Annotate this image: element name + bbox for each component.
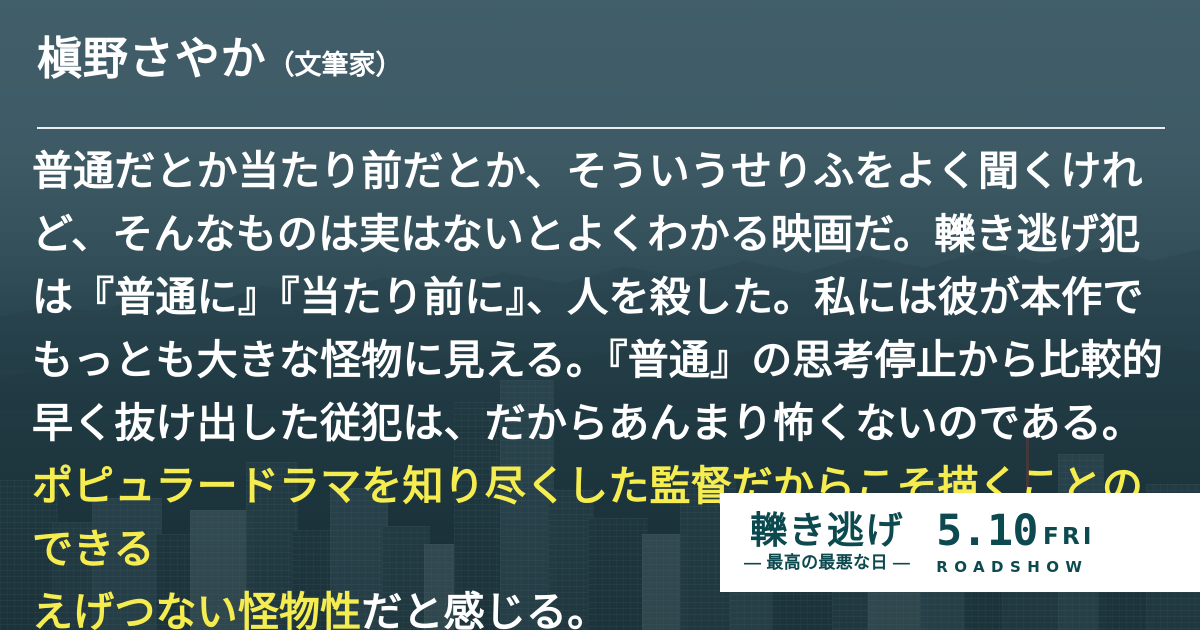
author-header: 槇野さやか （文筆家） — [37, 36, 1165, 81]
quote-segment-highlight-2: えげつない怪物性 — [32, 589, 361, 630]
release-date: 5.10 — [936, 511, 1038, 552]
film-logo-plate: 轢き逃げ — 最高の最悪な日 — 5.10 FRI ROADSHOW — [720, 493, 1200, 592]
author-role: （文筆家） — [268, 52, 403, 79]
header-divider — [37, 127, 1165, 129]
author-name: 槇野さやか — [37, 36, 267, 81]
card-content: 槇野さやか （文筆家） 普通だとか当たり前だとか、そういうせりふをよく聞くけれど… — [0, 0, 1200, 630]
quote-segment-plain-2: だと感じる。 — [361, 589, 608, 630]
film-tagline: — 最高の最悪な日 — — [744, 554, 910, 573]
release-date-row: 5.10 FRI — [936, 511, 1094, 552]
film-title-group: 轢き逃げ — 最高の最悪な日 — — [744, 512, 910, 572]
film-title: 轢き逃げ — [750, 512, 904, 550]
quote-segment-plain-1: 普通だとか当たり前だとか、そういうせりふをよく聞くけれど、そんなものは実はないと… — [32, 148, 1163, 446]
release-weekday: FRI — [1043, 526, 1095, 551]
roadshow-label: ROADSHOW — [936, 558, 1088, 576]
release-info-group: 5.10 FRI ROADSHOW — [936, 511, 1094, 577]
quote-card: 槇野さやか （文筆家） 普通だとか当たり前だとか、そういうせりふをよく聞くけれど… — [0, 0, 1200, 630]
author-line: 槇野さやか （文筆家） — [37, 36, 1165, 81]
